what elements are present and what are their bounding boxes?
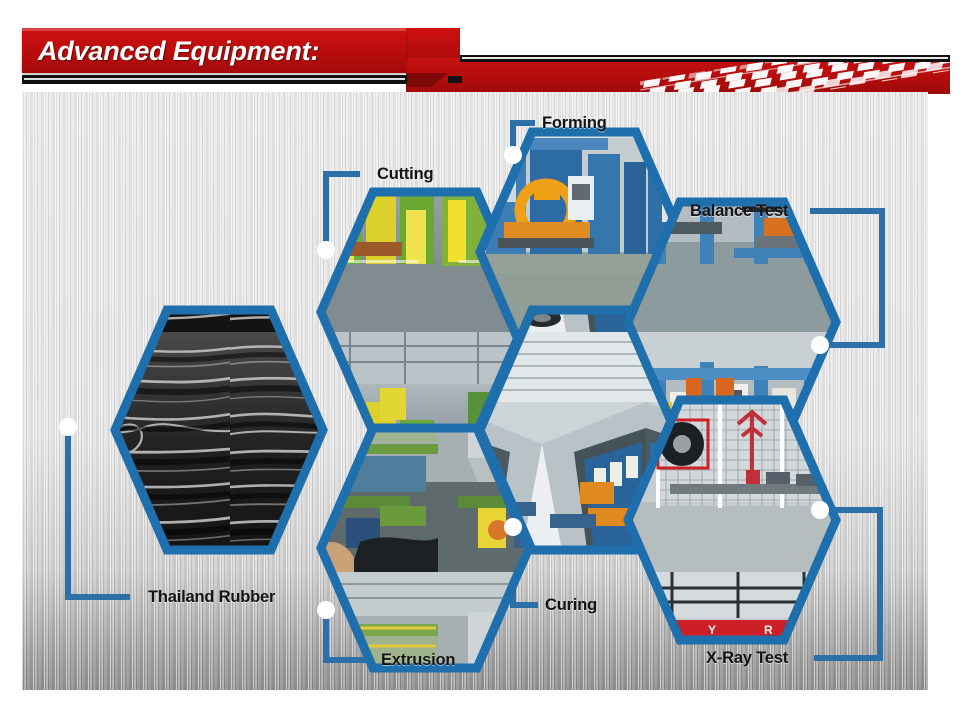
node-dot-thailand-rubber — [59, 418, 77, 436]
node-dot-cutting — [317, 241, 335, 259]
header-red-notch — [406, 28, 460, 58]
header-black-bar-right-highlight — [462, 57, 948, 59]
node-dot-forming — [504, 146, 522, 164]
node-dot-balance-test — [811, 336, 829, 354]
hexagon-process-diagram: RY RY — [22, 92, 928, 690]
label-cutting: Cutting — [377, 166, 433, 183]
slide-root: Advanced Equipment: — [0, 0, 970, 725]
header-banner: Advanced Equipment: — [0, 0, 970, 96]
thailand-rubber-photo — [115, 310, 323, 550]
label-forming: Forming — [542, 115, 607, 132]
label-curing: Curing — [545, 597, 597, 614]
node-dot-x-ray-test — [811, 501, 829, 519]
hexagon-thailand-rubber[interactable] — [115, 310, 323, 550]
node-dot-extrusion — [317, 601, 335, 619]
label-balance-test: Balance Test — [690, 203, 788, 220]
tire-tread-pattern-icon — [640, 57, 950, 95]
label-x-ray-test: X-Ray Test — [706, 650, 788, 667]
page-title: Advanced Equipment: — [38, 31, 408, 71]
header-black-bar-left-highlight — [24, 78, 405, 80]
label-thailand-rubber: Thailand Rubber — [148, 589, 275, 606]
label-extrusion: Extrusion — [381, 652, 455, 669]
header-black-bar-stub — [448, 76, 462, 83]
node-dot-curing — [504, 518, 522, 536]
